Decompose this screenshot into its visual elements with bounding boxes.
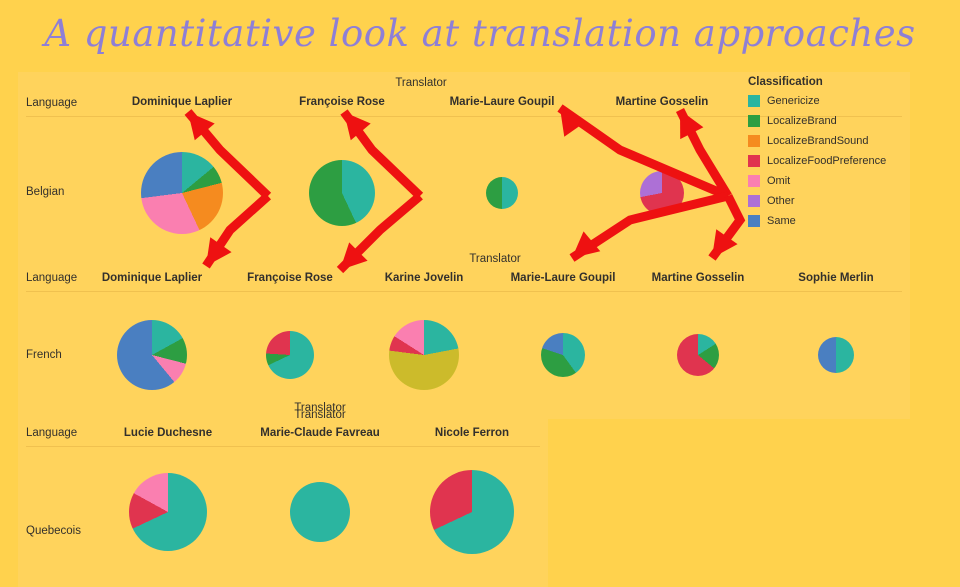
- legend-item-localizefoodpreference[interactable]: LocalizeFoodPreference: [748, 153, 938, 169]
- legend-label-genericize: Genericize: [767, 95, 820, 107]
- french-row-label: French: [26, 349, 62, 361]
- panel-french: Translator Language French Dominique Lap…: [18, 248, 910, 419]
- belgian-row-label: Belgian: [26, 186, 64, 198]
- pie-french-karine-jovelin[interactable]: [389, 320, 459, 390]
- column-header-quebecois-lucie-duchesne: Lucie Duchesne: [124, 427, 212, 439]
- legend: Classification GenericizeLocalizeBrandLo…: [748, 76, 938, 233]
- french-header-rule: [26, 291, 902, 292]
- pie-belgian-dominique-laplier[interactable]: [141, 152, 223, 234]
- legend-item-same[interactable]: Same: [748, 213, 938, 229]
- quebecois-language-axis-label: Language: [26, 427, 77, 439]
- legend-label-other: Other: [767, 195, 795, 207]
- legend-swatch-same: [748, 215, 760, 227]
- legend-label-localizebrand: LocalizeBrand: [767, 115, 837, 127]
- page-title: A quantitative look at translation appro…: [0, 12, 960, 55]
- pie-french-fran-oise-rose[interactable]: [266, 331, 314, 379]
- column-header-french-marie-laure-goupil: Marie-Laure Goupil: [511, 272, 616, 284]
- pie-belgian-fran-oise-rose[interactable]: [309, 160, 375, 226]
- legend-swatch-localizebrandsound: [748, 135, 760, 147]
- legend-label-localizebrandsound: LocalizeBrandSound: [767, 135, 869, 147]
- column-header-french-fran-oise-rose: Françoise Rose: [247, 272, 333, 284]
- column-header-quebecois-marie-claude-favreau: Marie-Claude Favreau: [260, 427, 380, 439]
- column-header-french-martine-gosselin: Martine Gosselin: [652, 272, 745, 284]
- pie-quebecois-marie-claude-favreau[interactable]: [290, 482, 350, 542]
- pie-french-marie-laure-goupil[interactable]: [541, 333, 585, 377]
- column-header-belgian-martine-gosselin: Martine Gosselin: [616, 96, 709, 108]
- legend-swatch-omit: [748, 175, 760, 187]
- column-header-belgian-marie-laure-goupil: Marie-Laure Goupil: [450, 96, 555, 108]
- visualization-canvas: A quantitative look at translation appro…: [0, 0, 960, 587]
- legend-swatch-localizefoodpreference: [748, 155, 760, 167]
- legend-label-omit: Omit: [767, 175, 790, 187]
- legend-title: Classification: [748, 76, 938, 88]
- legend-swatch-localizebrand: [748, 115, 760, 127]
- pie-quebecois-nicole-ferron[interactable]: [430, 470, 514, 554]
- pie-quebecois-lucie-duchesne[interactable]: [129, 473, 207, 551]
- french-translator-axis-label: Translator: [469, 253, 520, 265]
- belgian-language-axis-label: Language: [26, 97, 77, 109]
- quebecois-row-label: Quebecois: [26, 525, 81, 537]
- legend-label-same: Same: [767, 215, 796, 227]
- pie-belgian-martine-gosselin[interactable]: [640, 171, 684, 215]
- panel-quebecois: Translator Language Quebecois Lucie Duch…: [18, 419, 548, 587]
- legend-item-localizebrand[interactable]: LocalizeBrand: [748, 113, 938, 129]
- pie-french-martine-gosselin[interactable]: [677, 334, 719, 376]
- legend-item-other[interactable]: Other: [748, 193, 938, 209]
- quebecois-translator-label-outer: Translator: [294, 402, 345, 414]
- legend-swatch-genericize: [748, 95, 760, 107]
- pie-french-dominique-laplier[interactable]: [117, 320, 187, 390]
- quebecois-header-rule: [26, 446, 540, 447]
- legend-item-localizebrandsound[interactable]: LocalizeBrandSound: [748, 133, 938, 149]
- column-header-quebecois-nicole-ferron: Nicole Ferron: [435, 427, 509, 439]
- legend-label-localizefoodpreference: LocalizeFoodPreference: [767, 155, 886, 167]
- column-header-belgian-dominique-laplier: Dominique Laplier: [132, 96, 232, 108]
- column-header-french-dominique-laplier: Dominique Laplier: [102, 272, 202, 284]
- belgian-translator-axis-label: Translator: [395, 77, 446, 89]
- column-header-french-sophie-merlin: Sophie Merlin: [798, 272, 873, 284]
- pie-french-sophie-merlin[interactable]: [818, 337, 854, 373]
- legend-item-omit[interactable]: Omit: [748, 173, 938, 189]
- pie-belgian-marie-laure-goupil[interactable]: [486, 177, 518, 209]
- column-header-french-karine-jovelin: Karine Jovelin: [385, 272, 464, 284]
- column-header-belgian-fran-oise-rose: Françoise Rose: [299, 96, 385, 108]
- french-language-axis-label: Language: [26, 272, 77, 284]
- legend-item-genericize[interactable]: Genericize: [748, 93, 938, 109]
- legend-swatch-other: [748, 195, 760, 207]
